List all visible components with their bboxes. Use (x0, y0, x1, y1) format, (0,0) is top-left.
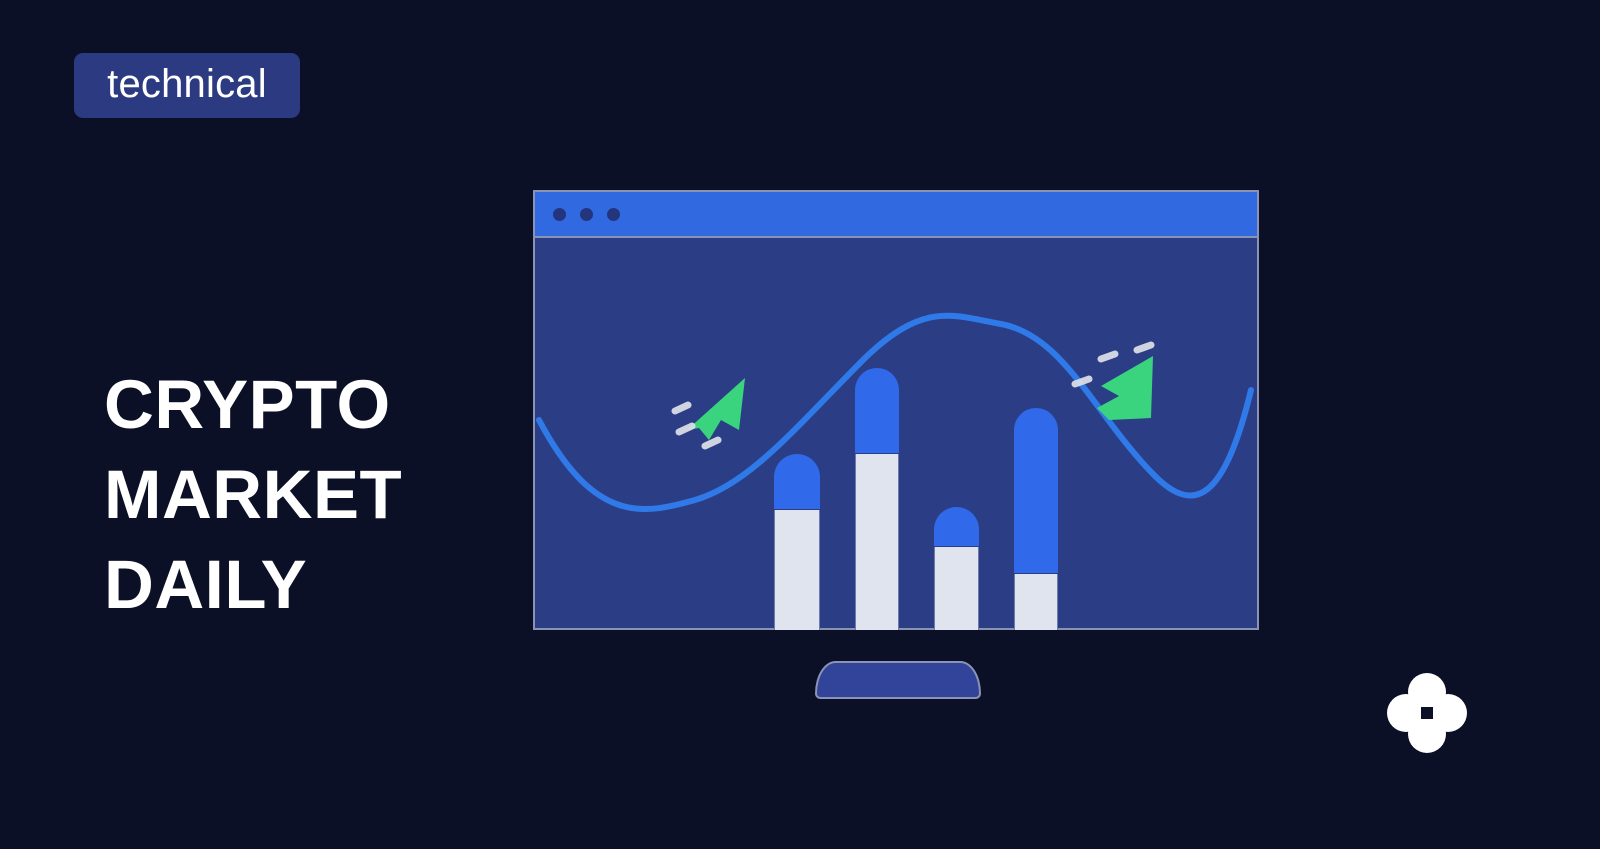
bar-4-upper (1014, 408, 1058, 574)
page-title-line-3: DAILY (104, 540, 524, 630)
page-title-line-2: MARKET (104, 450, 524, 540)
clover-petal-right (1429, 694, 1467, 732)
bar-1-upper (774, 454, 820, 510)
cursor-down-right-icon (1075, 345, 1153, 420)
monitor-screen-frame (533, 190, 1259, 630)
window-dot-close-icon[interactable] (553, 208, 566, 221)
page-title: CRYPTO MARKET DAILY (104, 360, 524, 630)
bar-2 (855, 368, 899, 630)
bar-1 (774, 454, 820, 630)
bar-3 (934, 507, 979, 630)
bar-1-lower (774, 510, 820, 630)
technical-badge: technical (74, 53, 300, 118)
window-titlebar (535, 192, 1257, 238)
cursor-up-right-arrow (687, 378, 745, 440)
cursor-up-right-icon (675, 378, 745, 446)
clover-petal-left (1387, 694, 1425, 732)
monitor-stand (815, 661, 981, 699)
bar-3-upper (934, 507, 979, 547)
poster-canvas: technical CRYPTO MARKET DAILY (0, 0, 1600, 849)
window-dot-maximize-icon[interactable] (607, 208, 620, 221)
clover-logo (1387, 673, 1467, 753)
technical-badge-label: technical (107, 64, 267, 107)
bar-4 (1014, 408, 1058, 630)
bar-3-lower (934, 547, 979, 630)
bar-2-lower (855, 454, 899, 630)
monitor-illustration (533, 190, 1259, 700)
page-title-line-1: CRYPTO (104, 360, 524, 450)
cursor-down-right-arrow (1097, 356, 1153, 420)
chart-area (535, 238, 1257, 630)
clover-center (1421, 707, 1433, 719)
window-dot-minimize-icon[interactable] (580, 208, 593, 221)
bar-2-upper (855, 368, 899, 454)
bar-4-lower (1014, 574, 1058, 630)
